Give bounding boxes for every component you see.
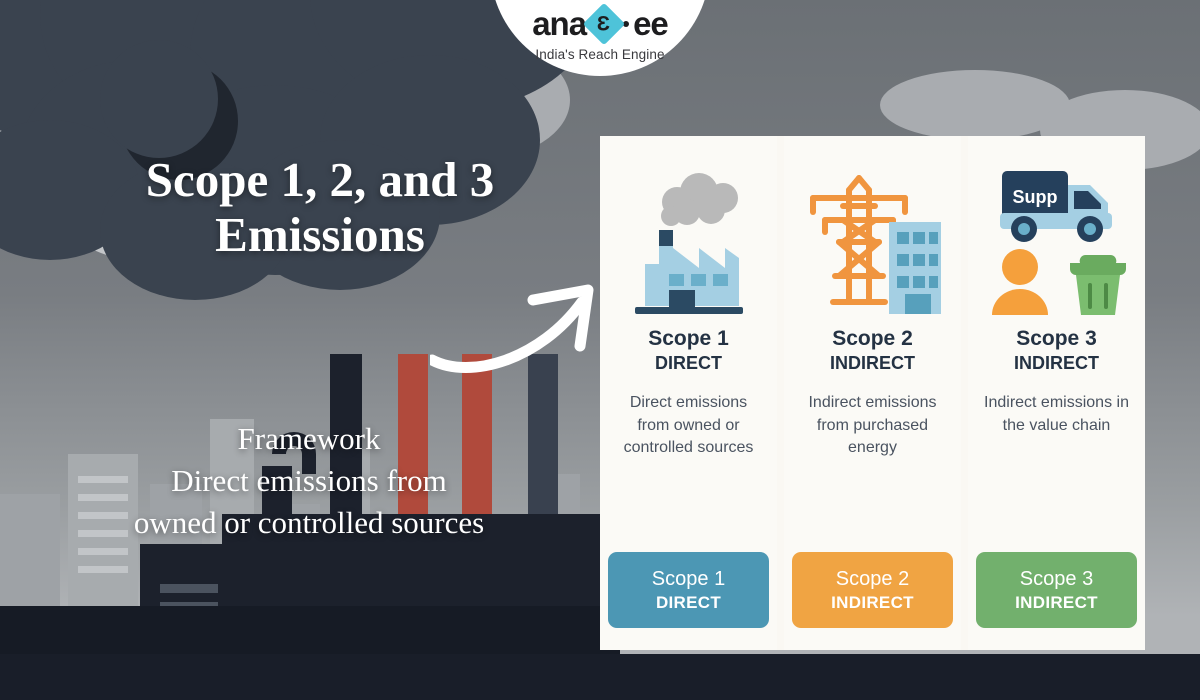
scope-card-2-footer-subtitle: INDIRECT — [831, 592, 914, 613]
scope-card-3[interactable]: Supp — [968, 136, 1145, 650]
waste-bin-icon — [1070, 255, 1126, 315]
curved-arrow-up-right-icon — [430, 268, 610, 380]
hero-subcopy-line-3: owned or controlled sources — [24, 502, 594, 544]
scope-card-1-title: Scope 1 — [648, 326, 729, 352]
scope-card-3-footer-subtitle: INDIRECT — [1015, 592, 1098, 613]
scope-card-1-footer-title: Scope 1 — [652, 567, 725, 592]
bottom-dark-band — [0, 654, 1200, 700]
scope-card-2-footer-badge[interactable]: Scope 2 INDIRECT — [792, 552, 953, 628]
infographic-canvas: ana Ɛ ee India's Reach Engine Scope 1, 2… — [0, 0, 1200, 700]
scope-card-3-footer-title: Scope 3 — [1020, 567, 1093, 592]
factory-smokestack-icon — [625, 154, 753, 324]
hero-subcopy-line-1: Framework — [24, 418, 594, 460]
logo-text-ana: ana — [532, 7, 586, 40]
scope-card-2[interactable]: Scope 2 INDIRECT Indirect emissions from… — [784, 136, 961, 650]
scope-card-2-footer-title: Scope 2 — [836, 567, 909, 592]
scope-card-1-subtitle: DIRECT — [655, 353, 722, 375]
person-icon — [992, 249, 1048, 315]
scope-card-3-description: Indirect emissions in the value chain — [982, 392, 1132, 437]
scope-card-3-subtitle: INDIRECT — [1014, 353, 1099, 375]
delivery-truck-icon: Supp — [1000, 171, 1112, 242]
hero-subcopy: Framework Direct emissions from owned or… — [24, 418, 594, 544]
logo-text-ee: ee — [633, 7, 668, 40]
scopes-panel: Scope 1 DIRECT Direct emissions from own… — [600, 136, 1145, 650]
logo-wordmark: ana Ɛ ee — [532, 7, 668, 40]
scope-card-3-footer-badge[interactable]: Scope 3 INDIRECT — [976, 552, 1137, 628]
delivery-truck-person-waste-bin-icon: Supp — [986, 154, 1128, 324]
logo-mark-glyph: Ɛ — [598, 13, 611, 34]
scope-card-1-footer-badge[interactable]: Scope 1 DIRECT — [608, 552, 769, 628]
scope-card-2-subtitle: INDIRECT — [830, 353, 915, 375]
hero-subcopy-line-2: Direct emissions from — [24, 460, 594, 502]
scope-cards-container: Scope 1 DIRECT Direct emissions from own… — [600, 136, 1145, 650]
truck-label: Supp — [1012, 187, 1057, 207]
logo-epsilon-mark-icon: Ɛ — [583, 2, 625, 44]
scope-card-3-title: Scope 3 — [1016, 326, 1097, 352]
scope-card-1-footer-subtitle: DIRECT — [656, 592, 721, 613]
page-title: Scope 1, 2, and 3 Emissions — [60, 152, 580, 263]
scope-card-2-description: Indirect emissions from purchased energy — [798, 392, 948, 460]
logo-tagline: India's Reach Engine — [535, 47, 664, 62]
scope-card-1-description: Direct emissions from owned or controlle… — [614, 392, 764, 460]
scope-card-2-title: Scope 2 — [832, 326, 913, 352]
power-transmission-tower-and-building-icon — [803, 154, 943, 324]
scope-card-1[interactable]: Scope 1 DIRECT Direct emissions from own… — [600, 136, 777, 650]
